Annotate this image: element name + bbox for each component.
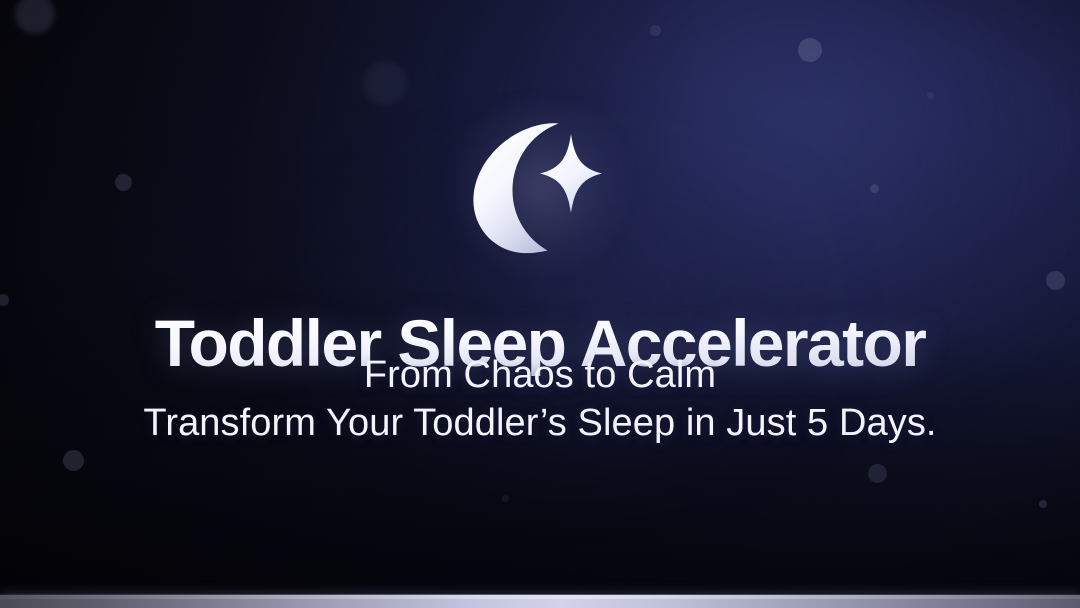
progress-bar[interactable] xyxy=(0,595,1080,608)
crescent-moon-sparkle-icon xyxy=(465,112,615,262)
logo-container xyxy=(465,112,615,262)
subtitle-line-1: From Chaos to Calm xyxy=(0,352,1080,398)
progress-bar-sheen xyxy=(0,595,1080,599)
presentation-slide: Toddler Sleep Accelerator From Chaos to … xyxy=(0,0,1080,608)
slide-content: Toddler Sleep Accelerator From Chaos to … xyxy=(0,0,1080,608)
subtitle-block: From Chaos to Calm Transform Your Toddle… xyxy=(0,352,1080,446)
subtitle-line-2: Transform Your Toddler’s Sleep in Just 5… xyxy=(0,400,1080,446)
